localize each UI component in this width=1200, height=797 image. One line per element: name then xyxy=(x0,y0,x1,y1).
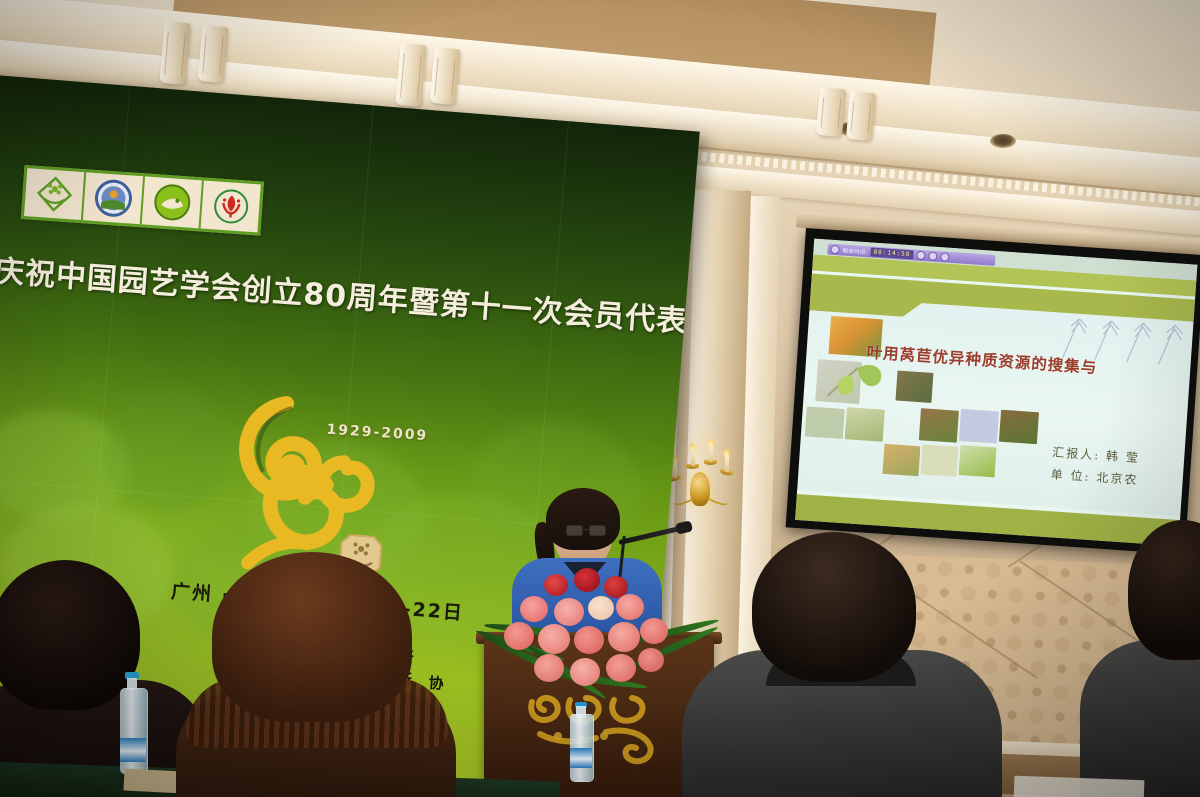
screen-black-border: 叶用莴苣优异种质资源的搜集与 汇报人: 韩 莹 单 位: 北京农 剩余时间: 0… xyxy=(786,228,1200,555)
ceiling-corbel-4 xyxy=(430,47,461,105)
sconce-flame-2 xyxy=(690,443,695,451)
podium-water-bottle xyxy=(570,702,592,780)
slide-thumb-pale-swatch xyxy=(921,444,959,476)
flower-red xyxy=(574,568,600,592)
ceiling-corbel-3 xyxy=(395,43,426,107)
flower-red xyxy=(544,574,568,596)
flower-pink xyxy=(608,622,640,652)
flower-pink xyxy=(574,626,604,654)
audience-member-2-head xyxy=(212,552,412,722)
flower-pink xyxy=(616,594,644,620)
flower-pink xyxy=(504,622,534,650)
audience-member-4-body xyxy=(1080,640,1200,797)
flower-pink xyxy=(554,598,584,626)
flower-pink xyxy=(538,624,570,654)
projection-screen: 叶用莴苣优异种质资源的搜集与 汇报人: 韩 莹 单 位: 北京农 剩余时间: 0… xyxy=(784,228,1200,574)
bottle-label xyxy=(570,748,592,768)
timer-digits: 00:14:58 xyxy=(870,247,913,259)
timer-stop-icon[interactable] xyxy=(928,251,938,261)
slide-presenter-name: 韩 莹 xyxy=(1106,449,1141,465)
china-horticultural-society-logo-icon xyxy=(33,174,76,215)
flower-arrangement xyxy=(478,568,714,698)
flower-cream xyxy=(588,596,614,620)
ceiling-corbel-2 xyxy=(198,25,229,83)
slide-thumb-field xyxy=(845,407,885,442)
slide-thumb-white-flower xyxy=(895,371,933,403)
sconce-flame-3 xyxy=(708,439,713,447)
presentation-slide: 叶用莴苣优异种质资源的搜集与 汇报人: 韩 莹 单 位: 北京农 剩余时间: 0… xyxy=(795,239,1197,546)
flower-pink xyxy=(640,618,668,644)
logo-cell-1 xyxy=(24,168,86,220)
slide-presenter-label: 汇报人: xyxy=(1052,445,1101,462)
green-circle-logo-icon xyxy=(152,182,193,223)
logo-cell-4 xyxy=(201,181,261,233)
slide-thumb-grass xyxy=(999,410,1039,445)
microphone-head-icon xyxy=(675,520,693,534)
table-paper-right xyxy=(1014,776,1145,797)
slide-thumb-seedling xyxy=(919,408,959,443)
speaker-glasses xyxy=(566,525,606,535)
ceiling-corbel-1 xyxy=(159,21,190,85)
table-water-bottle xyxy=(118,672,146,772)
flower-pink xyxy=(570,658,600,686)
ceiling-corbel-5 xyxy=(816,87,846,137)
organization-logo-strip xyxy=(21,165,264,236)
slide-presenter-row: 汇报人: 韩 莹 xyxy=(1052,443,1141,466)
flower-pink xyxy=(638,648,664,672)
conference-photo-scene: 叶用莴苣优异种质资源的搜集与 汇报人: 韩 莹 单 位: 北京农 剩余时间: 0… xyxy=(0,0,1200,797)
slide-affiliation-label: 单 位: xyxy=(1050,467,1091,484)
timer-settings-icon[interactable] xyxy=(830,245,840,255)
slide-thumb-blue-swatch xyxy=(959,409,999,444)
audience-member-3-head xyxy=(752,532,916,682)
ceiling-corbel-6 xyxy=(846,91,876,141)
downlight-2 xyxy=(990,134,1016,148)
speaker-hair xyxy=(546,488,620,550)
timer-label: 剩余时间: xyxy=(842,246,868,256)
slide-thumb-hand-plant xyxy=(882,444,920,476)
academy-circular-logo-icon xyxy=(93,178,134,219)
slide-affiliation-name: 北京农 xyxy=(1096,470,1139,487)
red-flower-logo-icon xyxy=(210,186,251,227)
timer-reset-icon[interactable] xyxy=(940,252,950,262)
flower-pink xyxy=(606,654,636,682)
flower-pink xyxy=(534,654,564,682)
slide-thumb-green-swatch xyxy=(805,406,845,439)
flower-pink xyxy=(520,596,548,622)
slide-thumb-two-leaves xyxy=(959,445,997,477)
logo-cell-2 xyxy=(83,172,145,224)
timer-pause-icon[interactable] xyxy=(916,251,926,261)
sconce-flame-4 xyxy=(724,449,729,457)
logo-cell-3 xyxy=(142,176,204,228)
slide-affiliation-row: 单 位: 北京农 xyxy=(1050,465,1139,488)
